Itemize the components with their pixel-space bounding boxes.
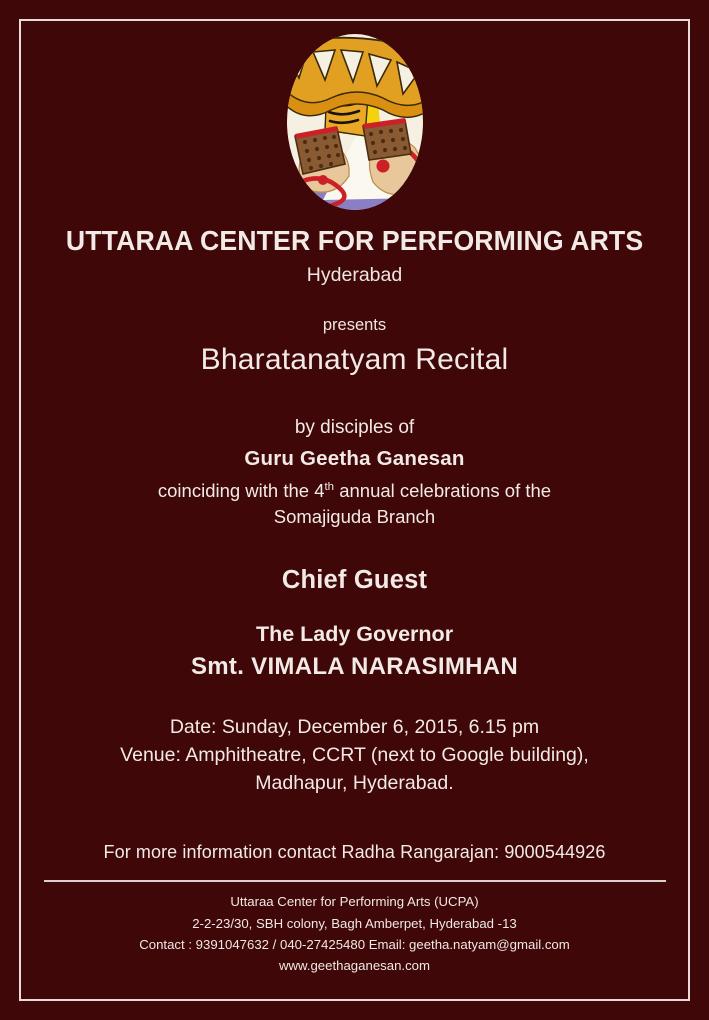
event-venue-line2: Madhapur, Hyderabad.: [120, 770, 589, 798]
footer-org-name: Uttaraa Center for Performing Arts (UCPA…: [139, 891, 570, 912]
chief-guest-heading: Chief Guest: [282, 566, 427, 595]
presents-label: presents: [323, 316, 386, 335]
event-title: Bharatanatyam Recital: [201, 343, 509, 377]
guru-name: Guru Geetha Ganesan: [244, 447, 464, 471]
coinciding-text: coinciding with the 4th annual celebrati…: [158, 478, 551, 529]
poster-content: UTTARAA CENTER FOR PERFORMING ARTS Hyder…: [24, 24, 685, 996]
chief-guest-title: The Lady Governor: [256, 622, 453, 647]
coinciding-text-line2: Somajiguda Branch: [274, 506, 435, 527]
footer-contact-email: Contact : 9391047632 / 040-27425480 Emai…: [139, 934, 570, 955]
event-details: Date: Sunday, December 6, 2015, 6.15 pm …: [120, 714, 589, 797]
coinciding-text-part1: coinciding with the 4: [158, 480, 325, 501]
coinciding-text-part2: annual celebrations of the: [334, 480, 551, 501]
organization-title: UTTARAA CENTER FOR PERFORMING ARTS: [66, 226, 643, 256]
organization-city: Hyderabad: [307, 264, 402, 287]
footer-address: 2-2-23/30, SBH colony, Bagh Amberpet, Hy…: [139, 913, 570, 934]
event-poster: UTTARAA CENTER FOR PERFORMING ARTS Hyder…: [0, 0, 709, 1020]
footer-divider: [44, 880, 666, 882]
footer-block: Uttaraa Center for Performing Arts (UCPA…: [139, 891, 570, 977]
by-disciples-label: by disciples of: [295, 417, 414, 439]
event-date: Date: Sunday, December 6, 2015, 6.15 pm: [120, 714, 589, 742]
more-information-contact: For more information contact Radha Ranga…: [103, 842, 605, 863]
event-venue-line1: Venue: Amphitheatre, CCRT (next to Googl…: [120, 742, 589, 770]
ordinal-suffix: th: [325, 481, 335, 493]
footer-website: www.geethaganesan.com: [139, 955, 570, 976]
chief-guest-name: Smt. VIMALA NARASIMHAN: [191, 653, 518, 681]
dancer-feet-ghungroo-logo: [265, 30, 445, 215]
